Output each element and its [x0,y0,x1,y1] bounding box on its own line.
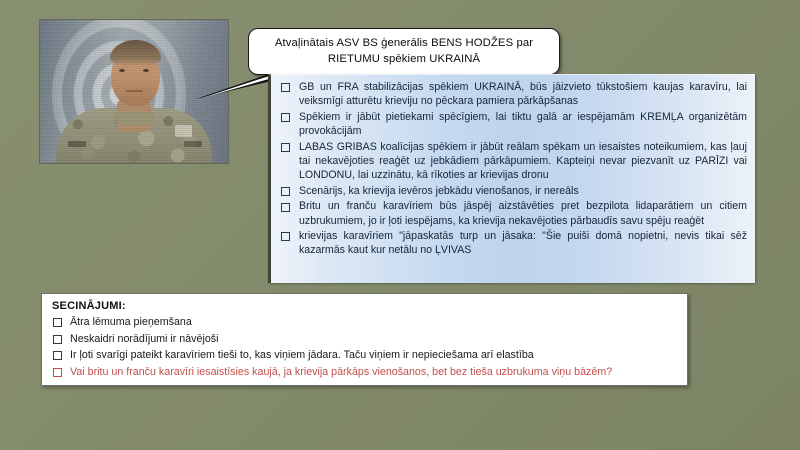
slide-canvas: Atvaļinātais ASV BS ģenerālis BENS HODŽE… [0,0,800,450]
empty-checkbox-icon [53,368,62,377]
list-item-label: Vai britu un franču karavīri iesaistīsie… [70,366,612,378]
list-item-label: krievijas karavīriem "jāpaskatās turp un… [299,230,747,256]
callout-text: Atvaļinātais ASV BS ģenerālis BENS HODŽE… [267,36,541,67]
empty-checkbox-icon [281,187,290,196]
empty-checkbox-icon [281,232,290,241]
speech-callout: Atvaļinātais ASV BS ģenerālis BENS HODŽE… [248,28,560,75]
list-item-label: Neskaidri norādījumi ir nāvējoši [70,333,219,345]
list-item-label: Scenārijs, ka krievija ievēros jebkādu v… [299,185,579,197]
callout-line-1: Atvaļinātais ASV BS ģenerālis BENS HODŽE… [275,37,533,49]
list-item: Spēkiem ir jābūt pietiekami spēcīgiem, l… [277,110,747,139]
statements-list: GB un FRA stabilizācijas spēkiem UKRAINĀ… [277,80,747,258]
conclusions-box: SECINĀJUMI: Ātra lēmuma pieņemšana Neska… [41,293,688,386]
list-item: GB un FRA stabilizācijas spēkiem UKRAINĀ… [277,80,747,109]
list-item: krievijas karavīriem "jāpaskatās turp un… [277,229,747,258]
empty-checkbox-icon [281,203,290,212]
callout-line-2: RIETUMU spēkiem UKRAINĀ [328,53,480,65]
statements-panel: GB un FRA stabilizācijas spēkiem UKRAINĀ… [268,74,755,283]
empty-checkbox-icon [281,83,290,92]
list-item-label: GB un FRA stabilizācijas spēkiem UKRAINĀ… [299,81,747,107]
empty-checkbox-icon [53,351,62,360]
list-item-label: Ir ļoti svarīgi pateikt karavīriem tieši… [70,349,534,361]
list-item-label: Ātra lēmuma pieņemšana [70,316,192,328]
empty-checkbox-icon [281,113,290,122]
empty-checkbox-icon [53,318,62,327]
list-item-label: Britu un franču karavīriem būs jāspēj ai… [299,200,747,226]
list-item: Ir ļoti svarīgi pateikt karavīriem tieši… [51,348,679,363]
list-item-highlighted: Vai britu un franču karavīri iesaistīsie… [51,365,679,380]
conclusions-list: Ātra lēmuma pieņemšana Neskaidri norādīj… [51,315,679,379]
list-item: Britu un franču karavīriem būs jāspēj ai… [277,199,747,228]
empty-checkbox-icon [281,143,290,152]
list-item: Ātra lēmuma pieņemšana [51,315,679,330]
empty-checkbox-icon [53,335,62,344]
conclusions-title: SECINĀJUMI: [52,300,679,312]
list-item: Scenārijs, ka krievija ievēros jebkādu v… [277,184,747,198]
list-item: Neskaidri norādījumi ir nāvējoši [51,332,679,347]
list-item: LABAS GRIBAS koalīcijas spēkiem ir jābūt… [277,140,747,183]
list-item-label: Spēkiem ir jābūt pietiekami spēcīgiem, l… [299,111,747,137]
list-item-label: LABAS GRIBAS koalīcijas spēkiem ir jābūt… [299,141,747,182]
